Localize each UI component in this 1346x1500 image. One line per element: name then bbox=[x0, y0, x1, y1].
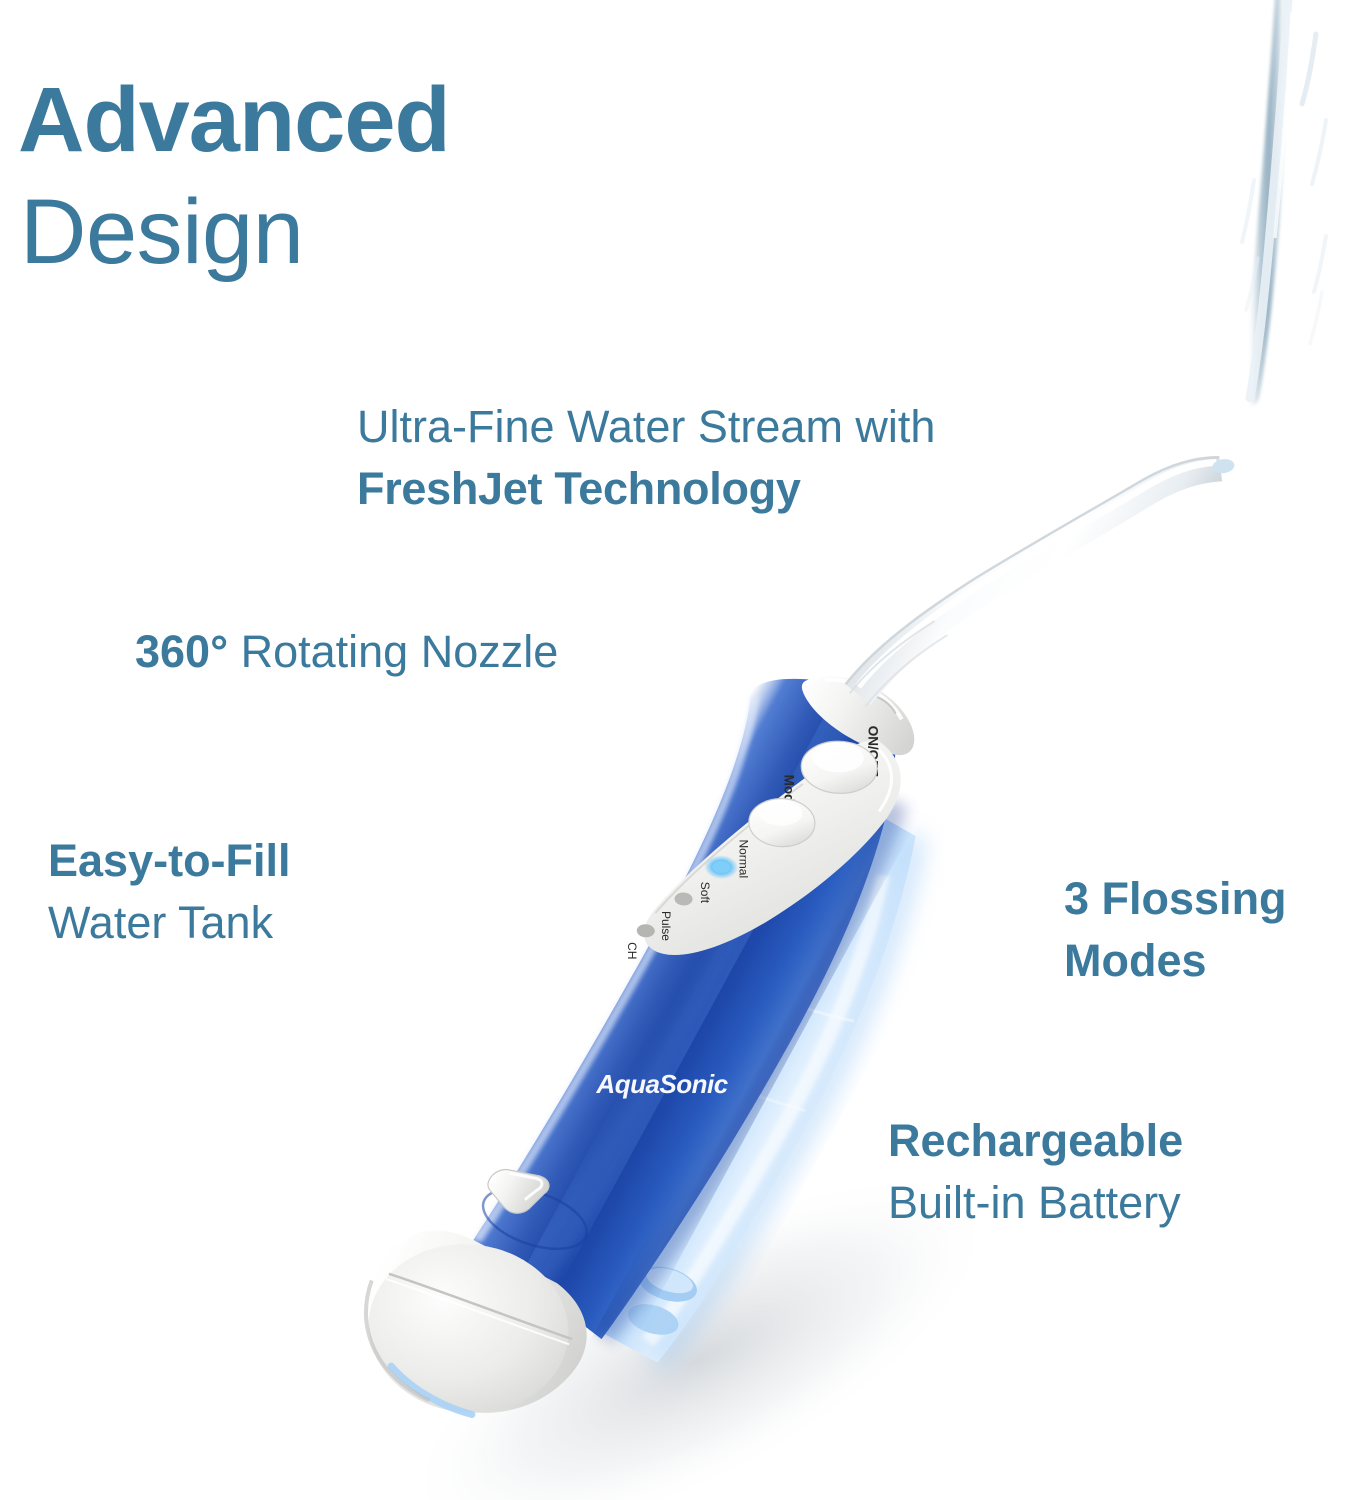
feature-rechargeable-line1: Rechargeable bbox=[888, 1118, 1183, 1163]
feature-rotating-nozzle-rest: Rotating Nozzle bbox=[228, 626, 558, 677]
feature-easy-to-fill-line2: Water Tank bbox=[48, 900, 273, 945]
feature-flossing-modes-line1: 3 Flossing bbox=[1064, 876, 1287, 921]
indicator-led-soft bbox=[674, 892, 693, 906]
brand-logo: AquaSonic bbox=[595, 1069, 728, 1099]
indicator-label-pulse: Pulse bbox=[659, 911, 673, 941]
infographic-canvas: AquaSonic bbox=[0, 0, 1346, 1500]
feature-ultra-fine-stream-line1: Ultra-Fine Water Stream with bbox=[357, 404, 935, 449]
water-tank bbox=[557, 791, 954, 1371]
feature-flossing-modes-line2: Modes bbox=[1064, 938, 1207, 983]
power-button bbox=[780, 710, 898, 824]
feature-rotating-nozzle: 360° Rotating Nozzle bbox=[135, 629, 558, 674]
page-title-line1: Advanced bbox=[18, 74, 450, 166]
page-title-line2: Design bbox=[20, 186, 303, 278]
base-cap bbox=[304, 1168, 632, 1489]
indicator-label-normal: Normal bbox=[736, 839, 750, 878]
feature-ultra-fine-stream-line2: FreshJet Technology bbox=[357, 466, 801, 511]
device-body bbox=[445, 651, 950, 1351]
control-panel: ON/OFF Mode Normal bbox=[618, 668, 925, 1037]
tank-valve bbox=[612, 1249, 707, 1350]
indicator-label-ch: CH bbox=[625, 942, 639, 959]
feature-rotating-nozzle-emphasis: 360° bbox=[135, 626, 228, 677]
water-stream bbox=[1242, 0, 1326, 398]
tank-latch bbox=[467, 1155, 605, 1277]
indicator-label-soft: Soft bbox=[698, 882, 712, 904]
indicator-led-normal bbox=[695, 841, 749, 893]
mode-label: Mode bbox=[782, 775, 797, 811]
feature-easy-to-fill-line1: Easy-to-Fill bbox=[48, 838, 291, 883]
indicator-led-pulse bbox=[636, 924, 655, 938]
power-label: ON/OFF bbox=[865, 726, 880, 777]
feature-rechargeable-line2: Built-in Battery bbox=[888, 1180, 1181, 1225]
mode-button bbox=[729, 772, 834, 874]
nozzle-collar bbox=[791, 657, 929, 767]
